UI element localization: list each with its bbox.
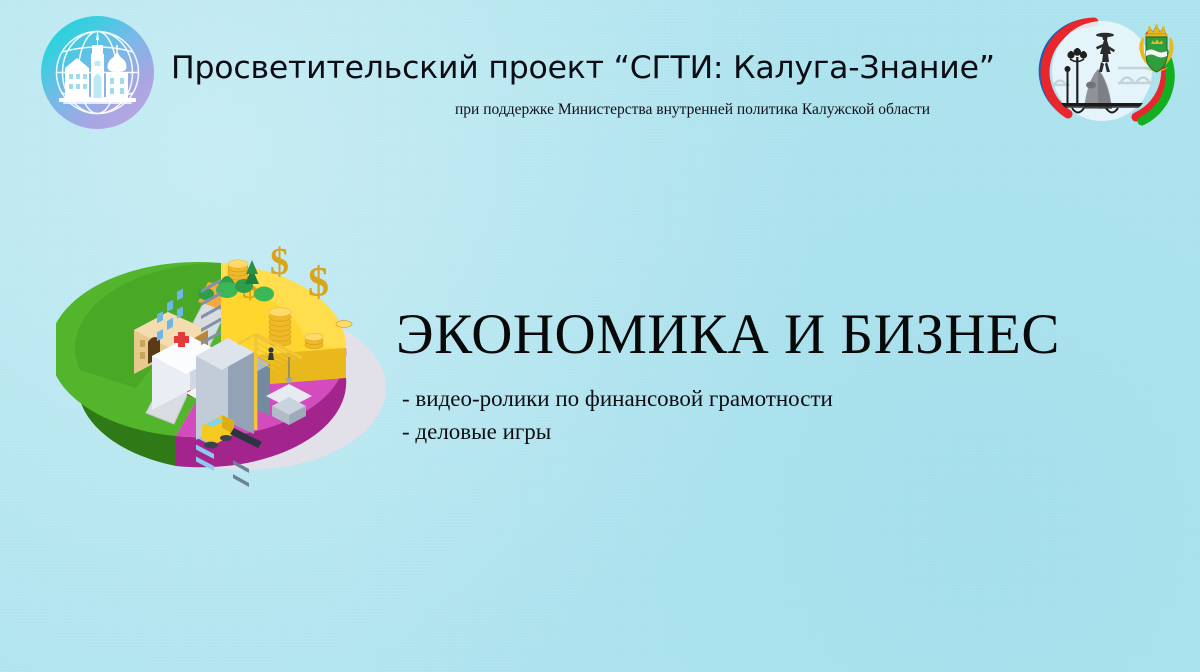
svg-text:$: $: [308, 260, 329, 306]
main-headline: ЭКОНОМИКА И БИЗНЕС: [396, 305, 1156, 365]
svg-text:$: $: [270, 241, 289, 283]
ministry-support-line: при поддержке Министерства внутренней по…: [455, 101, 930, 119]
topic-list: - видео-ролики по финансовой грамотности…: [396, 383, 1156, 448]
main-content-block: ЭКОНОМИКА И БИЗНЕС - видео-ролики по фин…: [396, 305, 1156, 448]
project-logo: [41, 16, 154, 129]
list-item: - деловые игры: [396, 416, 1156, 449]
page-title: Просветительский проект “СГТИ: Калуга-Зн…: [171, 50, 995, 86]
kaluga-region-emblem: [1032, 11, 1184, 129]
list-item: - видео-ролики по финансовой грамотности: [396, 383, 1156, 416]
slide-root: Просветительский проект “СГТИ: Калуга-Зн…: [0, 0, 1200, 672]
slide-header: Просветительский проект “СГТИ: Калуга-Зн…: [0, 0, 1200, 140]
economy-pie-illustration: $ $ $: [56, 238, 386, 488]
